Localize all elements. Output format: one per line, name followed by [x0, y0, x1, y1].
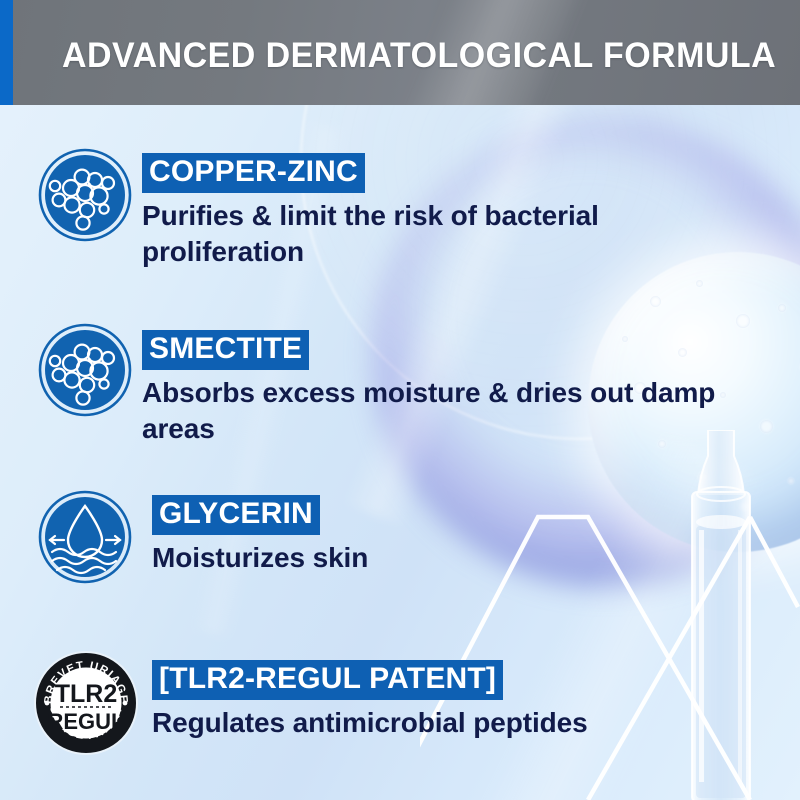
ingredient-text-smectite: SMECTITE Absorbs excess moisture & dries… [142, 330, 792, 448]
ingredient-name: SMECTITE [142, 330, 309, 370]
water-drop-hydration-icon [38, 490, 132, 584]
ingredient-name: [TLR2-REGUL PATENT] [152, 660, 503, 700]
seal-line-1: TLR2 [55, 680, 118, 708]
ingredient-name: GLYCERIN [152, 495, 320, 535]
ingredient-name: COPPER-ZINC [142, 153, 365, 193]
page-title: ADVANCED DERMATOLOGICAL FORMULA [62, 36, 776, 76]
header-banner: ADVANCED DERMATOLOGICAL FORMULA [0, 0, 800, 105]
seal-line-2: REGUL [48, 709, 125, 734]
tlr2-regul-patent-seal-icon: BREVET URIAGE URIAGE PATENT TLR2 REGUL [33, 650, 139, 756]
ingredient-description: Regulates antimicrobial peptides [152, 705, 712, 741]
product-infographic-poster: ADVANCED DERMATOLOGICAL FORMULA [0, 0, 800, 800]
header-accent-bar [0, 0, 13, 105]
ingredient-text-tlr2: [TLR2-REGUL PATENT] Regulates antimicrob… [152, 660, 712, 741]
molecule-cluster-icon [38, 148, 132, 242]
ingredient-description: Purifies & limit the risk of bacterial p… [142, 198, 702, 271]
ingredient-list: COPPER-ZINC Purifies & limit the risk of… [0, 105, 800, 800]
ingredient-description: Absorbs excess moisture & dries out damp… [142, 375, 792, 448]
ingredient-text-glycerin: GLYCERIN Moisturizes skin [152, 495, 672, 576]
molecule-cluster-icon [38, 323, 132, 417]
ingredient-text-copper-zinc: COPPER-ZINC Purifies & limit the risk of… [142, 153, 702, 271]
ingredient-description: Moisturizes skin [152, 540, 672, 576]
